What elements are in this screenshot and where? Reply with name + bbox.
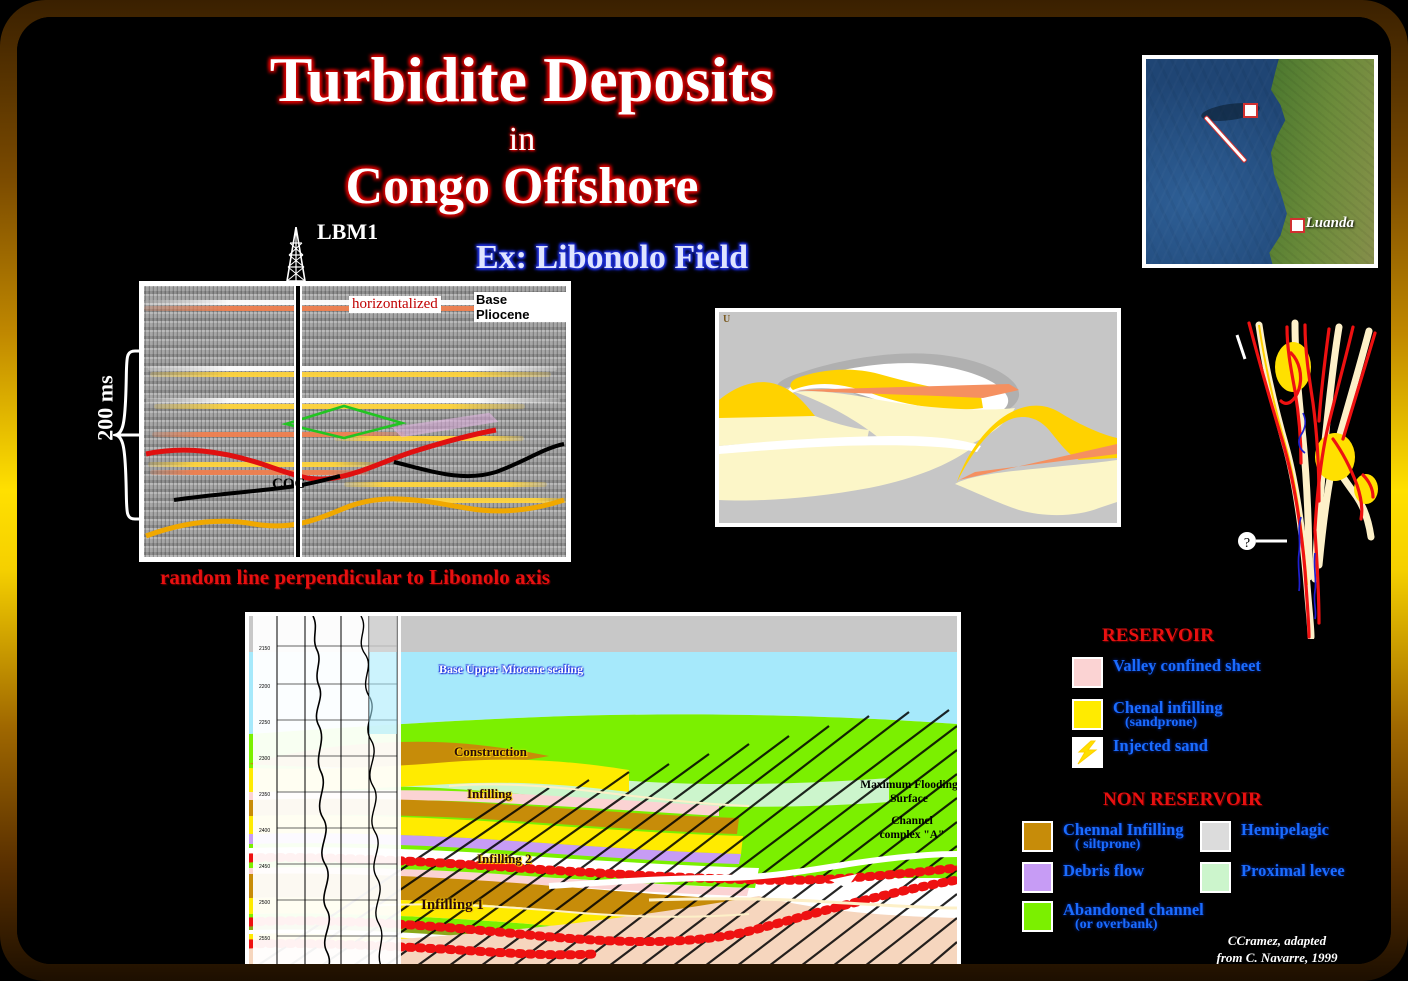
credit-line-2: from C. Navarre, 1999 — [1217, 950, 1338, 964]
mfs-label: Maximum Flooding Surface — [849, 778, 957, 807]
infilling-label: Infilling — [467, 786, 512, 802]
title-subtitle: Congo Offshore — [17, 157, 1027, 216]
coc-label: COC — [272, 476, 305, 493]
legend-heading-non-reservoir: NON RESERVOIR — [1103, 789, 1262, 811]
seismic-section-panel: horizontalized Base Pliocene COC — [139, 281, 571, 562]
geobody-shapes — [719, 312, 1117, 523]
svg-text:2300: 2300 — [259, 756, 270, 762]
base-upper-miocene-label: Base Upper Miocene sealing — [439, 662, 583, 677]
legend-heading-reservoir: RESERVOIR — [1102, 625, 1214, 647]
seismic-interpretation-overlay — [144, 286, 566, 557]
channel-complex-label: Channel complex "A" — [857, 814, 957, 843]
well-name-label: LBM1 — [317, 219, 378, 245]
slide: Turbidite Deposits in Congo Offshore Ex:… — [0, 0, 1408, 981]
satellite-map-image: Luanda — [1146, 59, 1374, 264]
hemipelagic-swatch-icon — [1200, 821, 1231, 852]
legend-item-hemipelagic[interactable]: Hemipelagic — [1200, 821, 1329, 852]
legend-label: Proximal levee — [1241, 861, 1345, 880]
injected-sand-lightning-bolt-icon — [1072, 737, 1103, 768]
geobody-diagram-panel: U — [715, 308, 1121, 527]
legend-item-injected-sand[interactable]: Injected sand — [1072, 737, 1208, 768]
slide-canvas: Turbidite Deposits in Congo Offshore Ex:… — [17, 17, 1391, 964]
mfs-line-2: Surface — [890, 793, 928, 805]
svg-text:2150: 2150 — [259, 646, 270, 652]
cross-section-panel: 21502200 22502300 23502400 24502500 2550… — [245, 612, 961, 964]
channel-line-1: Channel — [891, 815, 933, 827]
legend-item-valley-confined-sheet[interactable]: Valley confined sheet — [1072, 657, 1261, 688]
chennal-infilling-siltprone-swatch-icon — [1022, 821, 1053, 852]
legend-item-chenal-infilling-sandprone[interactable]: Chenal infilling (sandprone) — [1072, 699, 1223, 731]
page-title: Turbidite Deposits — [17, 43, 1027, 117]
legend-item-chennal-infilling-siltprone[interactable]: Chennal Infilling ( siltprone) — [1022, 821, 1184, 853]
svg-text:2500: 2500 — [259, 900, 270, 906]
channel-line-2: complex "A" — [880, 829, 945, 841]
legend-sublabel: (sandprone) — [1113, 716, 1223, 731]
base-pliocene-label: Base Pliocene — [474, 292, 566, 322]
channel-network-shapes: ? — [1229, 317, 1391, 639]
title-connector: in — [17, 121, 1027, 159]
proximal-levee-swatch-icon — [1200, 862, 1231, 893]
mfs-line-1: Maximum Flooding — [860, 779, 957, 791]
svg-text:2400: 2400 — [259, 828, 270, 834]
depth-scale-label: 200 ms — [93, 375, 119, 440]
svg-text:2250: 2250 — [259, 720, 270, 726]
credit-text: CCramez, adapted from C. Navarre, 1999 — [1167, 933, 1387, 964]
well-track-line — [294, 286, 302, 557]
infilling-2-label: Infilling 2 — [477, 851, 532, 867]
svg-text:2450: 2450 — [259, 864, 270, 870]
cross-section-image: 21502200 22502300 23502400 24502500 2550… — [249, 616, 957, 964]
svg-text:?: ? — [1244, 536, 1250, 551]
construction-label: Construction — [454, 744, 527, 760]
legend-sublabel: ( siltprone) — [1063, 838, 1184, 853]
svg-text:2200: 2200 — [259, 684, 270, 690]
abandoned-channel-swatch-icon — [1022, 901, 1053, 932]
legend-label: Hemipelagic — [1241, 820, 1329, 839]
legend-item-debris-flow[interactable]: Debris flow — [1022, 862, 1144, 893]
seismic-caption: random line perpendicular to Libonolo ax… — [117, 565, 593, 590]
luanda-marker — [1290, 218, 1305, 233]
valley-confined-sheet-swatch-icon — [1072, 657, 1103, 688]
legend-item-proximal-levee[interactable]: Proximal levee — [1200, 862, 1345, 893]
svg-text:2550: 2550 — [259, 936, 270, 942]
legend-item-abandoned-channel[interactable]: Abandoned channel (or overbank) — [1022, 901, 1204, 933]
channel-network-map: ? — [1229, 317, 1391, 639]
horizontalized-label: horizontalized — [349, 296, 441, 313]
infilling-1-label: Infilling 1 — [421, 897, 484, 914]
geobody-tag: U — [723, 314, 730, 325]
credit-line-1: CCramez, adapted — [1228, 933, 1326, 948]
svg-text:2350: 2350 — [259, 792, 270, 798]
satellite-map-inset: Luanda — [1142, 55, 1378, 268]
legend-label: Injected sand — [1113, 736, 1208, 755]
legend-label: Valley confined sheet — [1113, 656, 1261, 675]
title-example: Ex: Libonolo Field — [17, 239, 1207, 277]
legend-label: Debris flow — [1063, 861, 1144, 880]
seismic-image: horizontalized Base Pliocene COC — [144, 286, 566, 557]
field-location-marker — [1243, 103, 1258, 118]
debris-flow-swatch-icon — [1022, 862, 1053, 893]
legend-sublabel: (or overbank) — [1063, 918, 1204, 933]
chenal-infilling-swatch-icon — [1072, 699, 1103, 730]
luanda-label: Luanda — [1306, 215, 1354, 232]
derrick-icon — [279, 227, 313, 281]
geobody-image: U — [719, 312, 1117, 523]
